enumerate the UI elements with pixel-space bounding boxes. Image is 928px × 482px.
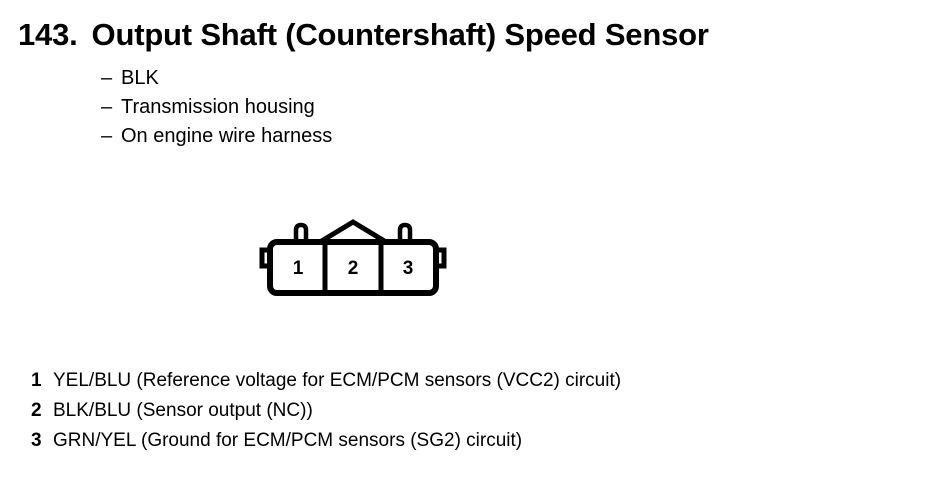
list-item-label: On engine wire harness [121,125,332,147]
pin-description: GRN/YEL (Ground for ECM/PCM sensors (SG2… [53,430,522,451]
dash-bullet-icon: – [101,93,121,122]
pin-row: 1YEL/BLU (Reference voltage for ECM/PCM … [31,366,891,396]
list-item: –Transmission housing [101,93,601,122]
list-item: –On engine wire harness [101,122,601,151]
page-title-text: Output Shaft (Countershaft) Speed Sensor [92,17,709,52]
list-item-label: Transmission housing [121,96,315,118]
page-title: 143.Output Shaft (Countershaft) Speed Se… [18,16,910,54]
pin-number: 3 [31,426,43,456]
pin-description: BLK/BLU (Sensor output (NC)) [53,400,313,421]
connector-svg: 1 2 3 [258,218,448,298]
attribute-list: –BLK –Transmission housing –On engine wi… [101,64,601,151]
list-item-label: BLK [121,67,159,89]
pin-number: 2 [31,396,43,426]
connector-diagram: 1 2 3 [258,218,448,298]
cavity-number-1: 1 [293,258,304,279]
pin-description: YEL/BLU (Reference voltage for ECM/PCM s… [53,370,621,391]
pin-row: 3GRN/YEL (Ground for ECM/PCM sensors (SG… [31,426,891,456]
list-item: –BLK [101,64,601,93]
page-title-number: 143. [18,16,78,54]
pin-legend: 1YEL/BLU (Reference voltage for ECM/PCM … [31,366,891,456]
cavity-number-2: 2 [348,258,359,279]
pin-row: 2BLK/BLU (Sensor output (NC)) [31,396,891,426]
dash-bullet-icon: – [101,122,121,151]
pin-number: 1 [31,366,43,396]
cavity-number-3: 3 [403,258,414,279]
dash-bullet-icon: – [101,64,121,93]
